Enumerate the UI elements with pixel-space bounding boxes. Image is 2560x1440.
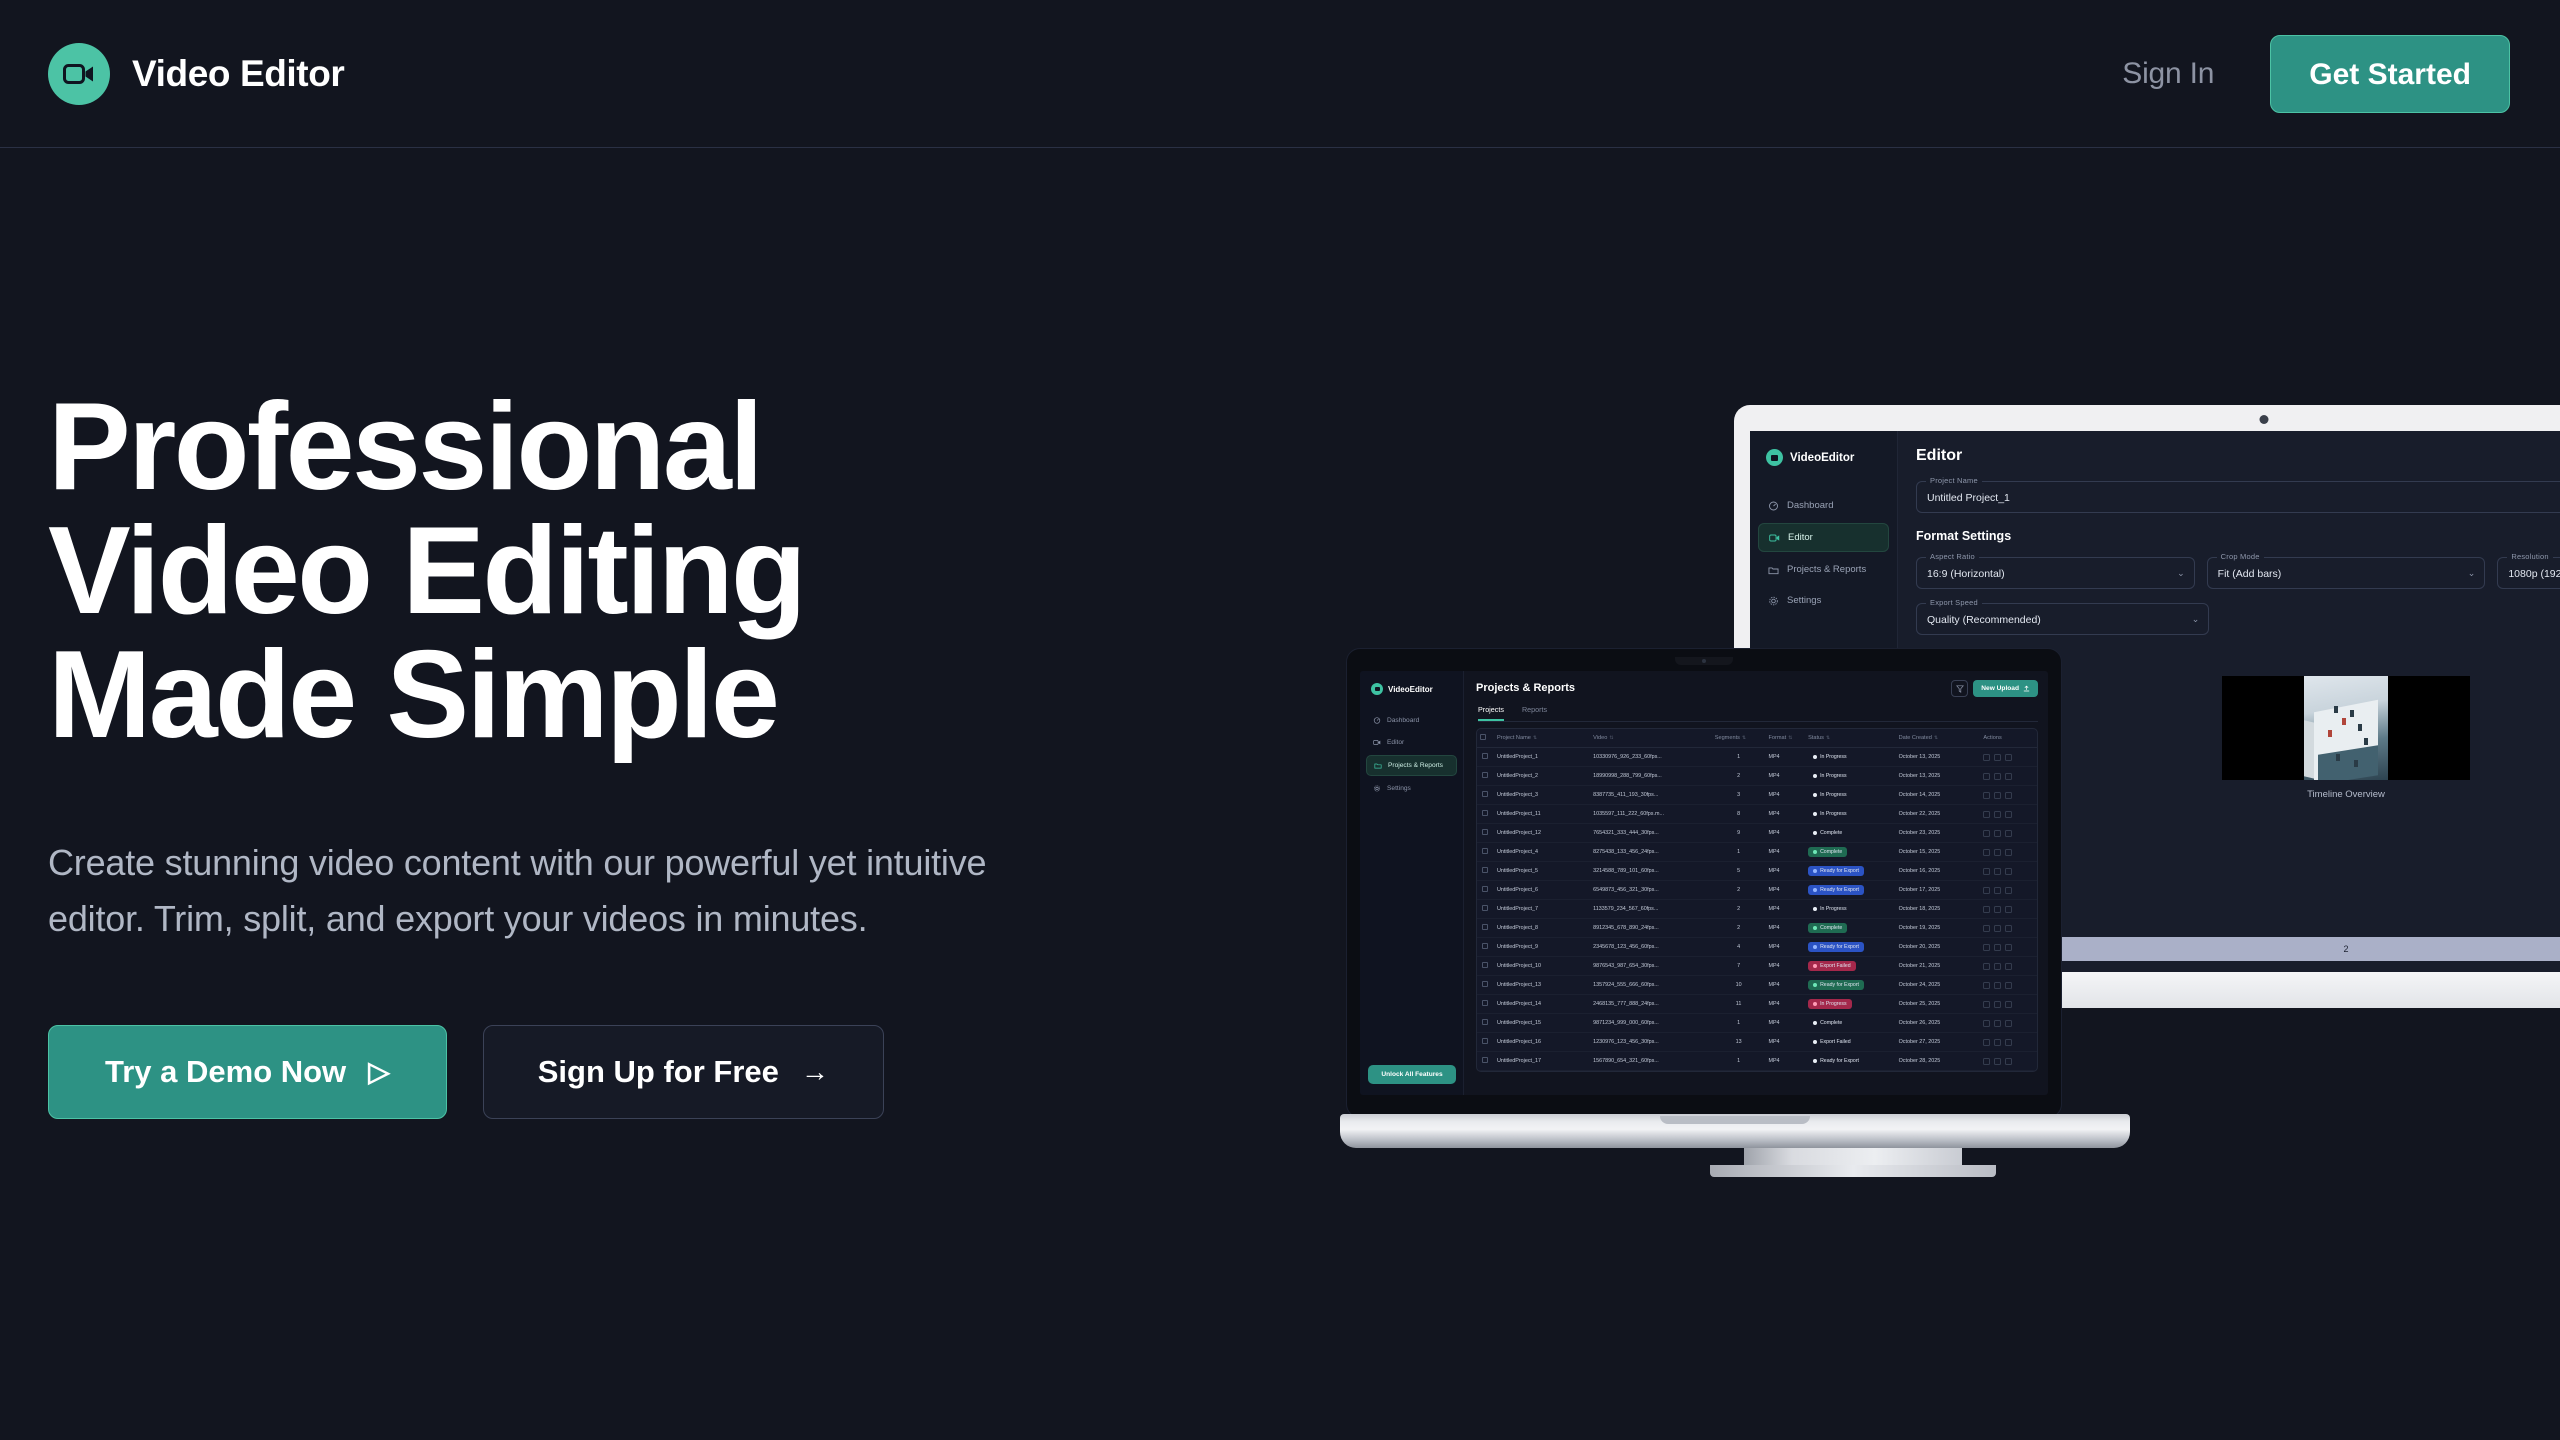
status-badge: Complete bbox=[1808, 1018, 1847, 1028]
cell-format: MP4 bbox=[1765, 805, 1805, 824]
cell-date-created: October 15, 2025 bbox=[1896, 843, 1981, 862]
cell-actions[interactable] bbox=[1980, 824, 2037, 843]
cell-format: MP4 bbox=[1765, 824, 1805, 843]
export-icon[interactable] bbox=[1994, 1001, 2001, 1008]
gauge-icon bbox=[1768, 501, 1779, 511]
cell-format: MP4 bbox=[1765, 881, 1805, 900]
status-badge: Export Failed bbox=[1808, 961, 1856, 971]
format-settings-title: Format Settings bbox=[1916, 529, 2560, 543]
column-header-project-name[interactable]: Project Name⇅ bbox=[1494, 729, 1590, 748]
sidebar-item-dashboard[interactable]: Dashboard bbox=[1366, 711, 1457, 730]
cell-segments: 2 bbox=[1712, 881, 1766, 900]
cell-format: MP4 bbox=[1765, 938, 1805, 957]
hero-subtitle: Create stunning video content with our p… bbox=[48, 835, 1058, 947]
chevron-down-icon: ⌄ bbox=[2468, 568, 2476, 579]
cell-video: 2345678_123_456_60fps... bbox=[1590, 938, 1712, 957]
sidebar-label: Editor bbox=[1387, 739, 1404, 746]
edit-icon[interactable] bbox=[1983, 944, 1990, 951]
hero-section: Professional Video Editing Made Simple C… bbox=[48, 385, 1058, 1119]
delete-icon[interactable] bbox=[2005, 944, 2012, 951]
cell-date-created: October 23, 2025 bbox=[1896, 824, 1981, 843]
table-row[interactable]: UntitledProject_53214588_789_101_60fps..… bbox=[1477, 862, 2037, 881]
row-checkbox[interactable] bbox=[1477, 881, 1494, 900]
cell-status: In Progress bbox=[1805, 805, 1896, 824]
delete-icon[interactable] bbox=[2005, 849, 2012, 856]
cell-date-created: October 18, 2025 bbox=[1896, 900, 1981, 919]
edit-icon[interactable] bbox=[1983, 811, 1990, 818]
cell-segments: 8 bbox=[1712, 805, 1766, 824]
cell-project-name: UntitledProject_5 bbox=[1494, 862, 1590, 881]
projects-sidebar-brand: VideoEditor bbox=[1360, 683, 1463, 695]
cell-project-name: UntitledProject_13 bbox=[1494, 976, 1590, 995]
select-all-checkbox[interactable] bbox=[1477, 729, 1494, 748]
video-camera-icon bbox=[1766, 449, 1783, 466]
filter-icon[interactable] bbox=[1951, 680, 1968, 697]
page-title: Professional Video Editing Made Simple bbox=[48, 385, 1058, 757]
cell-project-name: UntitledProject_4 bbox=[1494, 843, 1590, 862]
export-icon[interactable] bbox=[1994, 944, 2001, 951]
tab-projects[interactable]: Projects bbox=[1478, 705, 1504, 721]
laptop-deck-notch bbox=[1660, 1116, 1810, 1124]
table-row[interactable]: UntitledProject_110330976_926_233_60fps.… bbox=[1477, 748, 2037, 767]
cell-video: 6549873_456_321_30fps... bbox=[1590, 881, 1712, 900]
cell-status: Ready for Export bbox=[1805, 862, 1896, 881]
sidebar-item-projects-reports[interactable]: Projects & Reports bbox=[1366, 755, 1457, 776]
site-header: Video Editor Sign In Get Started bbox=[0, 0, 2560, 148]
sidebar-label: Projects & Reports bbox=[1388, 762, 1443, 769]
cell-actions[interactable] bbox=[1980, 805, 2037, 824]
laptop-screen: VideoEditor Dashboard Editor Projec bbox=[1360, 671, 2048, 1095]
edit-icon[interactable] bbox=[1983, 1039, 1990, 1046]
unlock-all-features-button[interactable]: Unlock All Features bbox=[1368, 1065, 1456, 1084]
delete-icon[interactable] bbox=[2005, 754, 2012, 761]
new-upload-label: New Upload bbox=[1981, 685, 2019, 692]
table-row[interactable]: UntitledProject_38387735_411_193_30fps..… bbox=[1477, 786, 2037, 805]
tab-reports[interactable]: Reports bbox=[1522, 705, 1547, 721]
cell-status: Complete bbox=[1805, 824, 1896, 843]
status-badge: Complete bbox=[1808, 847, 1847, 857]
table-row[interactable]: UntitledProject_171567890_654_321_60fps.… bbox=[1477, 1052, 2037, 1071]
cell-status: Ready for Export bbox=[1805, 976, 1896, 995]
aspect-ratio-value: 16:9 (Horizontal) bbox=[1927, 568, 2184, 580]
column-header-segments[interactable]: Segments⇅ bbox=[1712, 729, 1766, 748]
cell-segments: 11 bbox=[1712, 995, 1766, 1014]
crop-mode-label: Crop Mode bbox=[2217, 552, 2264, 561]
video-player-preview[interactable] bbox=[2222, 676, 2470, 780]
monitor-camera-icon bbox=[2260, 415, 2269, 424]
upload-icon bbox=[2023, 685, 2030, 692]
sidebar-item-editor[interactable]: Editor bbox=[1758, 523, 1889, 552]
row-checkbox[interactable] bbox=[1477, 1033, 1494, 1052]
cell-date-created: October 22, 2025 bbox=[1896, 805, 1981, 824]
resolution-value: 1080p (1920x1080) bbox=[2508, 568, 2560, 580]
status-badge: Ready for Export bbox=[1808, 942, 1864, 952]
cell-date-created: October 27, 2025 bbox=[1896, 1033, 1981, 1052]
letterbox-bar-left bbox=[2222, 676, 2304, 780]
row-checkbox[interactable] bbox=[1477, 900, 1494, 919]
status-badge: Ready for Export bbox=[1808, 980, 1864, 990]
row-checkbox[interactable] bbox=[1477, 919, 1494, 938]
cell-segments: 13 bbox=[1712, 1033, 1766, 1052]
cell-project-name: UntitledProject_1 bbox=[1494, 748, 1590, 767]
edit-icon[interactable] bbox=[1983, 773, 1990, 780]
row-checkbox[interactable] bbox=[1477, 805, 1494, 824]
edit-icon[interactable] bbox=[1983, 925, 1990, 932]
video-camera-icon bbox=[1769, 533, 1780, 543]
cell-format: MP4 bbox=[1765, 767, 1805, 786]
gear-icon bbox=[1768, 596, 1779, 606]
sidebar-label: Settings bbox=[1387, 785, 1411, 792]
cell-format: MP4 bbox=[1765, 900, 1805, 919]
column-header-date-created[interactable]: Date Created⇅ bbox=[1896, 729, 1981, 748]
try-demo-button[interactable]: Try a Demo Now ▷ bbox=[48, 1025, 447, 1119]
delete-icon[interactable] bbox=[2005, 887, 2012, 894]
edit-icon[interactable] bbox=[1983, 906, 1990, 913]
table-row[interactable]: UntitledProject_131357924_555_666_60fps.… bbox=[1477, 976, 2037, 995]
table-row[interactable]: UntitledProject_161230976_123_456_30fps.… bbox=[1477, 1033, 2037, 1052]
cell-date-created: October 17, 2025 bbox=[1896, 881, 1981, 900]
status-badge: Complete bbox=[1808, 828, 1847, 838]
cell-video: 1133579_234_567_60fps... bbox=[1590, 900, 1712, 919]
export-icon[interactable] bbox=[1994, 849, 2001, 856]
table-row[interactable]: UntitledProject_218990998_288_799_60fps.… bbox=[1477, 767, 2037, 786]
cell-segments: 1 bbox=[1712, 843, 1766, 862]
cell-segments: 1 bbox=[1712, 1014, 1766, 1033]
cell-video: 1230976_123_456_30fps... bbox=[1590, 1033, 1712, 1052]
cell-format: MP4 bbox=[1765, 1014, 1805, 1033]
new-upload-button[interactable]: New Upload bbox=[1973, 680, 2038, 697]
column-header-format[interactable]: Format⇅ bbox=[1765, 729, 1805, 748]
status-badge: Ready for Export bbox=[1808, 866, 1864, 876]
cell-segments: 1 bbox=[1712, 1052, 1766, 1071]
column-header-actions: Actions bbox=[1980, 729, 2037, 748]
row-checkbox[interactable] bbox=[1477, 1052, 1494, 1071]
export-icon[interactable] bbox=[1994, 754, 2001, 761]
gauge-icon bbox=[1373, 717, 1381, 724]
laptop-mockup: VideoEditor Dashboard Editor Projec bbox=[1340, 648, 2130, 1178]
brand-logo[interactable]: Video Editor bbox=[48, 43, 344, 105]
export-icon[interactable] bbox=[1994, 830, 2001, 837]
export-icon[interactable] bbox=[1994, 982, 2001, 989]
cell-date-created: October 19, 2025 bbox=[1896, 919, 1981, 938]
delete-icon[interactable] bbox=[2005, 830, 2012, 837]
cell-format: MP4 bbox=[1765, 843, 1805, 862]
table-row[interactable]: UntitledProject_48275438_133_456_24fps..… bbox=[1477, 843, 2037, 862]
edit-icon[interactable] bbox=[1983, 1058, 1990, 1065]
edit-icon[interactable] bbox=[1983, 792, 1990, 799]
delete-icon[interactable] bbox=[2005, 792, 2012, 799]
row-checkbox[interactable] bbox=[1477, 767, 1494, 786]
chevron-down-icon: ⌄ bbox=[2177, 568, 2185, 579]
cell-project-name: UntitledProject_9 bbox=[1494, 938, 1590, 957]
cell-project-name: UntitledProject_10 bbox=[1494, 957, 1590, 976]
table-row[interactable]: UntitledProject_127654321_333_444_30fps.… bbox=[1477, 824, 2037, 843]
cell-actions[interactable] bbox=[1980, 1033, 2037, 1052]
cell-segments: 7 bbox=[1712, 957, 1766, 976]
cell-video: 3214588_789_101_60fps... bbox=[1590, 862, 1712, 881]
cell-date-created: October 13, 2025 bbox=[1896, 748, 1981, 767]
cell-segments: 5 bbox=[1712, 862, 1766, 881]
cell-status: Ready for Export bbox=[1805, 881, 1896, 900]
sidebar-label: Dashboard bbox=[1787, 500, 1833, 511]
status-badge: In Progress bbox=[1808, 771, 1852, 781]
status-badge: Complete bbox=[1808, 923, 1847, 933]
table-row[interactable]: UntitledProject_109876543_987_654_30fps.… bbox=[1477, 957, 2037, 976]
play-icon: ▷ bbox=[368, 1058, 390, 1086]
cell-segments: 9 bbox=[1712, 824, 1766, 843]
export-icon[interactable] bbox=[1994, 1058, 2001, 1065]
cell-date-created: October 24, 2025 bbox=[1896, 976, 1981, 995]
export-icon[interactable] bbox=[1994, 887, 2001, 894]
sign-up-button[interactable]: Sign Up for Free → bbox=[483, 1025, 884, 1119]
cell-actions[interactable] bbox=[1980, 748, 2037, 767]
cell-status: Ready for Export bbox=[1805, 1052, 1896, 1071]
cell-video: 9876543_987_654_30fps... bbox=[1590, 957, 1712, 976]
crop-mode-value: Fit (Add bars) bbox=[2218, 568, 2475, 580]
sign-in-link[interactable]: Sign In bbox=[2122, 57, 2214, 91]
product-mockups: VideoEditor Dashboard Editor Projec bbox=[1340, 380, 2560, 1220]
cell-project-name: UntitledProject_15 bbox=[1494, 1014, 1590, 1033]
cell-actions[interactable] bbox=[1980, 862, 2037, 881]
delete-icon[interactable] bbox=[2005, 1039, 2012, 1046]
chevron-down-icon: ⌄ bbox=[2192, 614, 2200, 625]
status-badge: In Progress bbox=[1808, 999, 1852, 1009]
laptop-deck bbox=[1340, 1114, 2130, 1148]
cell-status: Complete bbox=[1805, 919, 1896, 938]
cell-actions[interactable] bbox=[1980, 995, 2037, 1014]
cell-video: 2468135_777_888_24fps... bbox=[1590, 995, 1712, 1014]
editor-brand-name: VideoEditor bbox=[1790, 452, 1854, 464]
project-name-value: Untitled Project_1 bbox=[1927, 492, 2560, 504]
table-row[interactable]: UntitledProject_71133579_234_567_60fps..… bbox=[1477, 900, 2037, 919]
export-icon[interactable] bbox=[1994, 868, 2001, 875]
table-row[interactable]: UntitledProject_88912345_678_890_24fps..… bbox=[1477, 919, 2037, 938]
sidebar-label: Projects & Reports bbox=[1787, 564, 1866, 575]
video-camera-icon bbox=[1373, 739, 1381, 746]
edit-icon[interactable] bbox=[1983, 887, 1990, 894]
cell-video: 7654321_333_444_30fps... bbox=[1590, 824, 1712, 843]
delete-icon[interactable] bbox=[2005, 868, 2012, 875]
cell-actions[interactable] bbox=[1980, 976, 2037, 995]
cell-format: MP4 bbox=[1765, 919, 1805, 938]
export-icon[interactable] bbox=[1994, 925, 2001, 932]
sidebar-label: Settings bbox=[1787, 595, 1821, 606]
row-checkbox[interactable] bbox=[1477, 786, 1494, 805]
cell-format: MP4 bbox=[1765, 976, 1805, 995]
table-row[interactable]: UntitledProject_159871234_999_000_60fps.… bbox=[1477, 1014, 2037, 1033]
cell-video: 8387735_411_193_30fps... bbox=[1590, 786, 1712, 805]
cell-actions[interactable] bbox=[1980, 843, 2037, 862]
sidebar-label: Dashboard bbox=[1387, 717, 1419, 724]
cell-actions[interactable] bbox=[1980, 938, 2037, 957]
delete-icon[interactable] bbox=[2005, 1001, 2012, 1008]
delete-icon[interactable] bbox=[2005, 906, 2012, 913]
edit-icon[interactable] bbox=[1983, 830, 1990, 837]
editor-sidebar-brand: VideoEditor bbox=[1750, 449, 1897, 466]
export-icon[interactable] bbox=[1994, 811, 2001, 818]
delete-icon[interactable] bbox=[2005, 811, 2012, 818]
cell-video: 1357924_555_666_60fps... bbox=[1590, 976, 1712, 995]
cell-project-name: UntitledProject_12 bbox=[1494, 824, 1590, 843]
laptop-lid: VideoEditor Dashboard Editor Projec bbox=[1346, 648, 2062, 1118]
projects-main: Projects & Reports New Upload Proje bbox=[1464, 671, 2048, 1095]
project-name-field[interactable]: Project Name Untitled Project_1 bbox=[1916, 481, 2560, 513]
crop-mode-select[interactable]: Crop Mode Fit (Add bars) ⌄ bbox=[2207, 557, 2486, 589]
cell-video: 8912345_678_890_24fps... bbox=[1590, 919, 1712, 938]
cell-actions[interactable] bbox=[1980, 786, 2037, 805]
sidebar-item-editor[interactable]: Editor bbox=[1366, 733, 1457, 752]
cell-date-created: October 28, 2025 bbox=[1896, 1052, 1981, 1071]
video-frame-image bbox=[2304, 676, 2388, 780]
projects-sidebar: VideoEditor Dashboard Editor Projec bbox=[1360, 671, 1464, 1095]
export-icon[interactable] bbox=[1994, 1020, 2001, 1027]
sidebar-item-settings[interactable]: Settings bbox=[1758, 587, 1889, 614]
export-speed-select[interactable]: Export Speed Quality (Recommended) ⌄ bbox=[1916, 603, 2209, 635]
column-header-status[interactable]: Status⇅ bbox=[1805, 729, 1896, 748]
export-icon[interactable] bbox=[1994, 1039, 2001, 1046]
table-row[interactable]: UntitledProject_66549873_456_321_30fps..… bbox=[1477, 881, 2037, 900]
folder-icon bbox=[1768, 565, 1779, 575]
cell-date-created: October 20, 2025 bbox=[1896, 938, 1981, 957]
row-checkbox[interactable] bbox=[1477, 957, 1494, 976]
table-header: Project Name⇅ Video⇅ Segments⇅ Format⇅ S… bbox=[1477, 729, 2037, 748]
cell-format: MP4 bbox=[1765, 786, 1805, 805]
folder-icon bbox=[1374, 762, 1382, 769]
cell-project-name: UntitledProject_14 bbox=[1494, 995, 1590, 1014]
cell-actions[interactable] bbox=[1980, 957, 2037, 976]
cell-status: Export Failed bbox=[1805, 1033, 1896, 1052]
export-icon[interactable] bbox=[1994, 773, 2001, 780]
aspect-ratio-label: Aspect Ratio bbox=[1926, 552, 1979, 561]
edit-icon[interactable] bbox=[1983, 1001, 1990, 1008]
row-checkbox[interactable] bbox=[1477, 1014, 1494, 1033]
row-checkbox[interactable] bbox=[1477, 824, 1494, 843]
delete-icon[interactable] bbox=[2005, 982, 2012, 989]
cell-format: MP4 bbox=[1765, 995, 1805, 1014]
row-checkbox[interactable] bbox=[1477, 843, 1494, 862]
cell-actions[interactable] bbox=[1980, 881, 2037, 900]
cell-format: MP4 bbox=[1765, 748, 1805, 767]
cell-segments: 10 bbox=[1712, 976, 1766, 995]
cell-segments: 3 bbox=[1712, 786, 1766, 805]
row-checkbox[interactable] bbox=[1477, 748, 1494, 767]
row-checkbox[interactable] bbox=[1477, 976, 1494, 995]
try-demo-label: Try a Demo Now bbox=[105, 1054, 346, 1090]
format-settings-row: Aspect Ratio 16:9 (Horizontal) ⌄ Crop Mo… bbox=[1916, 557, 2560, 603]
edit-icon[interactable] bbox=[1983, 849, 1990, 856]
arrow-right-icon: → bbox=[801, 1058, 829, 1086]
table-row[interactable]: UntitledProject_142468135_777_888_24fps.… bbox=[1477, 995, 2037, 1014]
row-checkbox[interactable] bbox=[1477, 938, 1494, 957]
sidebar-item-dashboard[interactable]: Dashboard bbox=[1758, 492, 1889, 519]
video-camera-icon bbox=[48, 43, 110, 105]
export-icon[interactable] bbox=[1994, 963, 2001, 970]
cell-status: Complete bbox=[1805, 1014, 1896, 1033]
editor-page-title: Editor bbox=[1916, 447, 2560, 465]
edit-icon[interactable] bbox=[1983, 868, 1990, 875]
status-badge: In Progress bbox=[1808, 904, 1852, 914]
cell-video: 1567890_654_321_60fps... bbox=[1590, 1052, 1712, 1071]
cell-actions[interactable] bbox=[1980, 767, 2037, 786]
cell-segments: 1 bbox=[1712, 748, 1766, 767]
cell-segments: 2 bbox=[1712, 900, 1766, 919]
resolution-select[interactable]: Resolution 1080p (1920x1080) ⌄ bbox=[2497, 557, 2560, 589]
cell-date-created: October 16, 2025 bbox=[1896, 862, 1981, 881]
edit-icon[interactable] bbox=[1983, 963, 1990, 970]
cell-actions[interactable] bbox=[1980, 900, 2037, 919]
hero-cta-group: Try a Demo Now ▷ Sign Up for Free → bbox=[48, 1025, 1058, 1119]
cell-format: MP4 bbox=[1765, 1033, 1805, 1052]
cell-segments: 4 bbox=[1712, 938, 1766, 957]
status-badge: Export Failed bbox=[1808, 1037, 1856, 1047]
export-speed-label: Export Speed bbox=[1926, 598, 1982, 607]
cell-project-name: UntitledProject_6 bbox=[1494, 881, 1590, 900]
status-badge: Ready for Export bbox=[1808, 1056, 1864, 1066]
cell-date-created: October 13, 2025 bbox=[1896, 767, 1981, 786]
sidebar-item-settings[interactable]: Settings bbox=[1366, 779, 1457, 798]
row-checkbox[interactable] bbox=[1477, 862, 1494, 881]
cell-status: In Progress bbox=[1805, 900, 1896, 919]
letterbox-bar-right bbox=[2388, 676, 2470, 780]
table-row[interactable]: UntitledProject_92345678_123_456_60fps..… bbox=[1477, 938, 2037, 957]
cell-video: 18990998_288_799_60fps... bbox=[1590, 767, 1712, 786]
projects-brand-name: VideoEditor bbox=[1388, 685, 1433, 694]
cell-status: Export Failed bbox=[1805, 957, 1896, 976]
cell-actions[interactable] bbox=[1980, 1052, 2037, 1071]
status-badge: In Progress bbox=[1808, 752, 1852, 762]
header-actions: Sign In Get Started bbox=[2122, 35, 2510, 113]
delete-icon[interactable] bbox=[2005, 1020, 2012, 1027]
export-icon[interactable] bbox=[1994, 906, 2001, 913]
cell-actions[interactable] bbox=[1980, 1014, 2037, 1033]
export-icon[interactable] bbox=[1994, 792, 2001, 799]
delete-icon[interactable] bbox=[2005, 773, 2012, 780]
landing-page: Video Editor Sign In Get Started Profess… bbox=[0, 0, 2560, 1440]
cell-status: In Progress bbox=[1805, 995, 1896, 1014]
edit-icon[interactable] bbox=[1983, 982, 1990, 989]
aspect-ratio-select[interactable]: Aspect Ratio 16:9 (Horizontal) ⌄ bbox=[1916, 557, 2195, 589]
cell-date-created: October 21, 2025 bbox=[1896, 957, 1981, 976]
cell-status: In Progress bbox=[1805, 767, 1896, 786]
cell-video: 10330976_926_233_60fps... bbox=[1590, 748, 1712, 767]
table-row[interactable]: UntitledProject_111035597_111_222_60fps.… bbox=[1477, 805, 2037, 824]
edit-icon[interactable] bbox=[1983, 754, 1990, 761]
cell-actions[interactable] bbox=[1980, 919, 2037, 938]
sign-up-label: Sign Up for Free bbox=[538, 1054, 779, 1090]
projects-table: Project Name⇅ Video⇅ Segments⇅ Format⇅ S… bbox=[1477, 729, 2037, 1071]
cell-video: 9871234_999_000_60fps... bbox=[1590, 1014, 1712, 1033]
delete-icon[interactable] bbox=[2005, 1058, 2012, 1065]
sidebar-item-projects-reports[interactable]: Projects & Reports bbox=[1758, 556, 1889, 583]
row-checkbox[interactable] bbox=[1477, 995, 1494, 1014]
cell-status: In Progress bbox=[1805, 748, 1896, 767]
project-name-label: Project Name bbox=[1926, 476, 1982, 485]
cell-date-created: October 25, 2025 bbox=[1896, 995, 1981, 1014]
delete-icon[interactable] bbox=[2005, 925, 2012, 932]
get-started-button[interactable]: Get Started bbox=[2270, 35, 2510, 113]
cell-project-name: UntitledProject_2 bbox=[1494, 767, 1590, 786]
gear-icon bbox=[1373, 785, 1381, 792]
cell-project-name: UntitledProject_8 bbox=[1494, 919, 1590, 938]
edit-icon[interactable] bbox=[1983, 1020, 1990, 1027]
cell-project-name: UntitledProject_7 bbox=[1494, 900, 1590, 919]
column-header-video[interactable]: Video⇅ bbox=[1590, 729, 1712, 748]
status-badge: Ready for Export bbox=[1808, 885, 1864, 895]
cell-format: MP4 bbox=[1765, 957, 1805, 976]
delete-icon[interactable] bbox=[2005, 963, 2012, 970]
cell-video: 8275438_133_456_24fps... bbox=[1590, 843, 1712, 862]
cell-status: In Progress bbox=[1805, 786, 1896, 805]
